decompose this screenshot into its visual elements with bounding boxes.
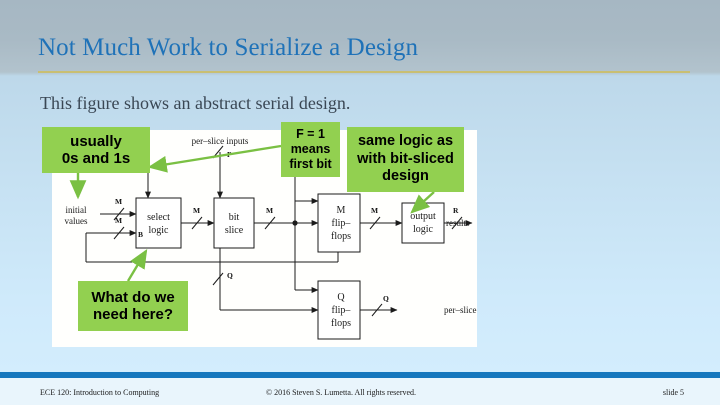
- block-label-select-logic-line1: select: [147, 212, 170, 223]
- bus-label-m-select-out: M: [193, 206, 200, 215]
- callout-f-equals-1-first-bit: F = 1 means first bit: [281, 122, 340, 177]
- callout-f1-line1: F = 1: [296, 127, 325, 142]
- figure-label-initial-values-line2: values: [65, 216, 88, 226]
- page-title: Not Much Work to Serialize a Design: [38, 33, 698, 63]
- footer-copyright: © 2016 Steven S. Lumetta. All rights res…: [266, 388, 416, 397]
- figure-label-per-slice-inputs: per–slice inputs: [192, 136, 249, 146]
- callout-usually-line1: usually: [70, 133, 122, 150]
- block-label-bit-slice-line2: slice: [225, 225, 244, 236]
- block-label-q-flip-flops-line2: flip–: [332, 305, 352, 316]
- block-label-m-flip-flops-line2: flip–: [332, 218, 352, 229]
- bus-label-m-ff-out: M: [371, 206, 378, 215]
- block-label-q-flip-flops-line3: flops: [331, 318, 351, 329]
- callout-f1-line3: first bit: [289, 157, 331, 172]
- bus-label-q-slice: Q: [227, 271, 233, 280]
- callout-what-do-we-need-here: What do we need here?: [78, 281, 188, 331]
- footer-slide-number: slide 5: [663, 388, 684, 397]
- callout-what-line2: need here?: [93, 306, 173, 323]
- block-label-output-logic-line1: output: [410, 211, 436, 222]
- figure-label-results: results: [446, 218, 470, 228]
- callout-f1-line2: means: [291, 142, 331, 157]
- figure-label-initial-values-line1: initial: [66, 205, 87, 215]
- title-divider: [38, 71, 690, 73]
- block-label-select-logic-line2: logic: [149, 225, 170, 236]
- block-label-bit-slice-line1: bit: [229, 212, 240, 223]
- figure-label-per-slice-outputs: per–slice outputs: [444, 305, 477, 315]
- bus-label-m-feedback: M: [115, 216, 122, 225]
- block-label-output-logic-line2: logic: [413, 224, 434, 235]
- bus-label-m-initial: M: [115, 197, 122, 206]
- footer-course-name: ECE 120: Introduction to Computing: [40, 388, 159, 397]
- footer: ECE 120: Introduction to Computing © 201…: [0, 378, 720, 405]
- bus-label-m-slice-out: M: [266, 206, 273, 215]
- callout-same-logic-line2: with bit-sliced: [357, 151, 454, 168]
- callout-what-line1: What do we: [91, 289, 174, 306]
- bus-label-q-ff-out: Q: [383, 294, 389, 303]
- callout-same-logic-bit-sliced: same logic as with bit-sliced design: [347, 127, 464, 192]
- callout-same-logic-line1: same logic as: [358, 133, 453, 150]
- block-label-m-flip-flops-line1: M: [337, 205, 346, 216]
- callout-usually-line2: 0s and 1s: [62, 150, 130, 167]
- block-label-q-flip-flops-line1: Q: [337, 292, 345, 303]
- callout-usually-0s-and-1s: usually 0s and 1s: [42, 127, 150, 173]
- bus-label-r-out: R: [453, 206, 459, 215]
- bus-label-p: P: [227, 150, 232, 159]
- slide: Not Much Work to Serialize a Design This…: [0, 0, 720, 405]
- callout-same-logic-line3: design: [382, 168, 429, 185]
- block-label-m-flip-flops-line3: flops: [331, 231, 351, 242]
- slide-subtitle: This figure shows an abstract serial des…: [40, 92, 350, 114]
- figure-label-b: B: [138, 230, 143, 239]
